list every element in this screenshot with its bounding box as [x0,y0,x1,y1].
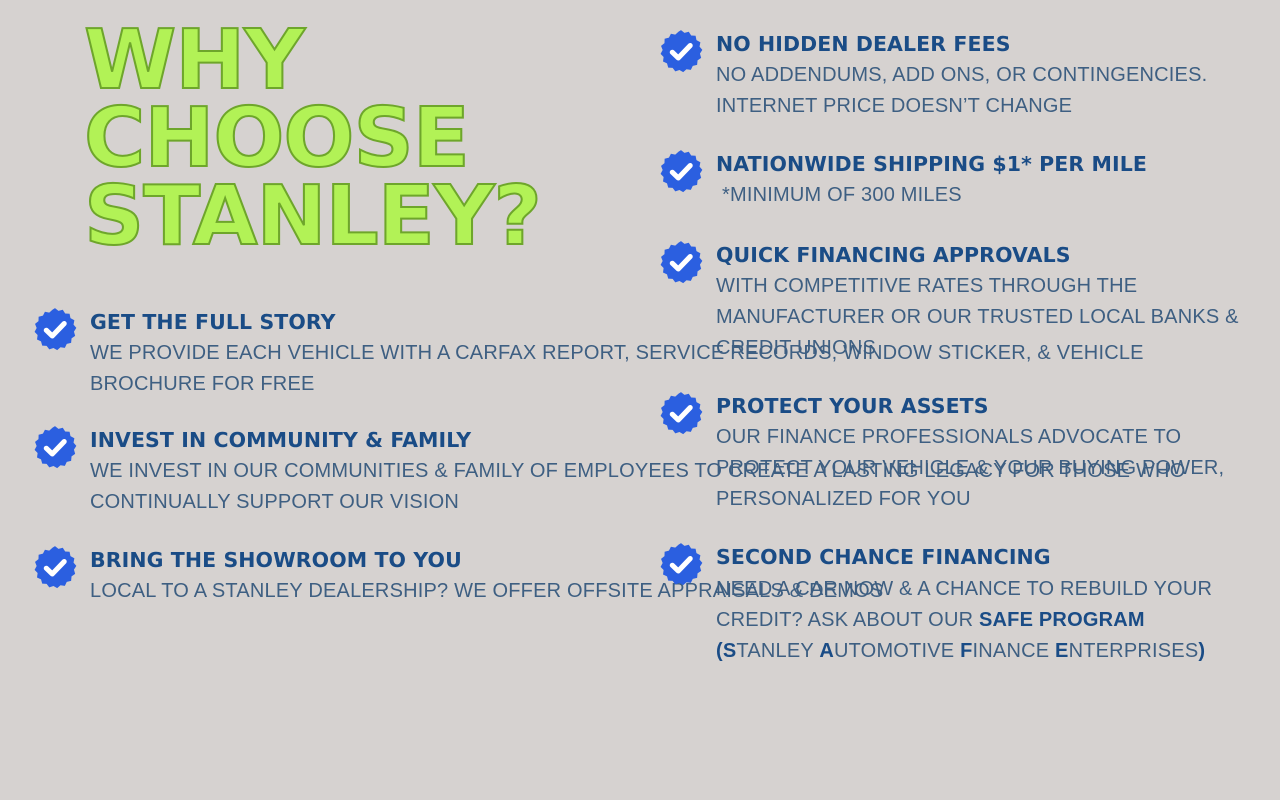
body-plain-utomotive: UTOMOTIVE [834,640,960,662]
feature-title: NATIONWIDE SHIPPING $1* PER MILE [716,150,1240,179]
why-choose-stanley-poster: WHY CHOOSE STANLEY? GET THE FULL STORY W… [0,0,1280,800]
body-plain-inance: INANCE [973,640,1056,662]
body-bold-e: E [1055,640,1069,662]
body-bold-f: F [960,640,972,662]
body-plain-nterprises: NTERPRISES [1069,640,1199,662]
feature-title: NO HIDDEN DEALER FEES [716,30,1240,59]
right-feature-list: NO HIDDEN DEALER FEES NO ADDENDUMS, ADD … [0,30,1280,693]
verified-check-badge-icon [658,391,704,437]
feature-item: NO HIDDEN DEALER FEES NO ADDENDUMS, ADD … [658,30,1240,122]
verified-check-badge-icon [658,29,704,75]
body-plain-tanley: TANLEY [736,640,819,662]
feature-body: *MINIMUM OF 300 MILES [716,180,1240,211]
feature-title: PROTECT YOUR ASSETS [716,392,1240,421]
verified-check-badge-icon [658,240,704,286]
feature-body-rich: NEED A CAR NOW & A CHANCE TO REBUILD YOU… [716,574,1240,667]
body-bold-a: A [819,640,834,662]
feature-title: SECOND CHANCE FINANCING [716,543,1240,572]
feature-item: QUICK FINANCING APPROVALS WITH COMPETITI… [658,241,1240,364]
body-bold-close-paren: ) [1198,640,1205,662]
verified-check-badge-icon [658,149,704,195]
feature-item: SECOND CHANCE FINANCING NEED A CAR NOW &… [658,543,1240,666]
verified-check-badge-icon [658,542,704,588]
feature-body: NO ADDENDUMS, ADD ONS, OR CONTINGENCIES.… [716,60,1240,122]
feature-body: WITH COMPETITIVE RATES THROUGH THE MANUF… [716,271,1240,364]
feature-title: QUICK FINANCING APPROVALS [716,241,1240,270]
feature-item: NATIONWIDE SHIPPING $1* PER MILE *MINIMU… [658,150,1240,211]
feature-body-text: *MINIMUM OF 300 MILES [716,180,962,211]
feature-body: OUR FINANCE PROFESSIONALS ADVOCATE TO PR… [716,422,1240,515]
feature-item: PROTECT YOUR ASSETS OUR FINANCE PROFESSI… [658,392,1240,515]
